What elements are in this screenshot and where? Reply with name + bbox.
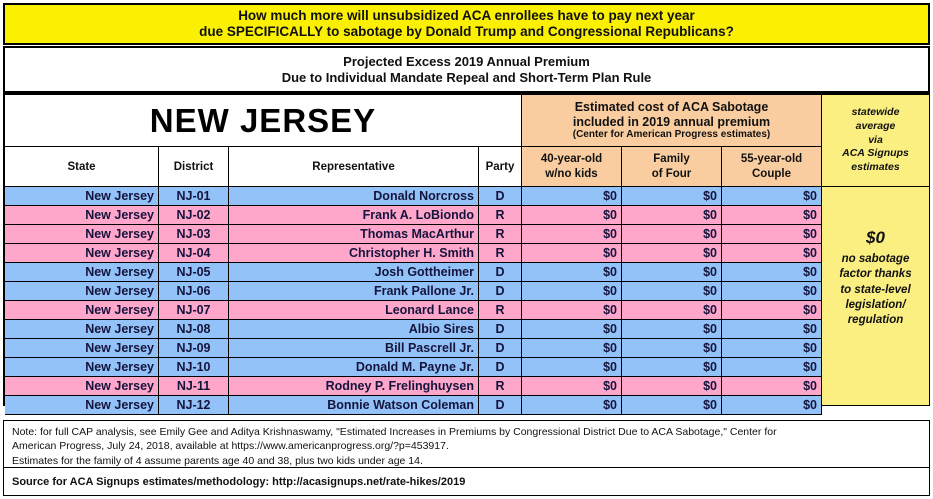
column-header-55-year-old-couple: 55-year-old Couple	[722, 147, 822, 187]
subtitle-line-2: Due to Individual Mandate Repeal and Sho…	[282, 70, 652, 86]
row-value-family-of-four: $0	[622, 263, 722, 282]
row-value-family-of-four: $0	[622, 320, 722, 339]
row-party: D	[479, 187, 522, 206]
row-value-family-of-four: $0	[622, 282, 722, 301]
row-representative: Donald M. Payne Jr.	[229, 358, 479, 377]
statewide-header-line-3: via	[868, 134, 883, 148]
row-party: D	[479, 396, 522, 415]
row-value-55-year-old-couple: $0	[722, 187, 822, 206]
table-row: New JerseyNJ-03Thomas MacArthurR$0$0$0	[5, 225, 822, 244]
row-party: D	[479, 282, 522, 301]
row-value-40-year-old: $0	[522, 358, 622, 377]
row-district: NJ-05	[159, 263, 229, 282]
row-value-40-year-old: $0	[522, 396, 622, 415]
column-header-40-year-old: 40-year-old w/no kids	[522, 147, 622, 187]
statewide-amount: $0	[866, 227, 885, 250]
row-representative: Frank Pallone Jr.	[229, 282, 479, 301]
row-value-family-of-four: $0	[622, 244, 722, 263]
row-district: NJ-07	[159, 301, 229, 320]
row-value-40-year-old: $0	[522, 244, 622, 263]
footnote-line-2: American Progress, July 24, 2018, availa…	[12, 439, 921, 453]
row-representative: Thomas MacArthur	[229, 225, 479, 244]
column-header-family-line-1: Family	[653, 152, 689, 166]
column-header-55-line-1: 55-year-old	[741, 152, 802, 166]
row-value-40-year-old: $0	[522, 263, 622, 282]
row-value-55-year-old-couple: $0	[722, 377, 822, 396]
table-row: New JerseyNJ-10Donald M. Payne Jr.D$0$0$…	[5, 358, 822, 377]
table-row: New JerseyNJ-04Christopher H. SmithR$0$0…	[5, 244, 822, 263]
row-state: New Jersey	[5, 282, 159, 301]
statewide-average-value-cell: $0 no sabotage factor thanks to state-le…	[822, 187, 929, 406]
row-representative: Josh Gottheimer	[229, 263, 479, 282]
row-district: NJ-03	[159, 225, 229, 244]
row-value-55-year-old-couple: $0	[722, 320, 822, 339]
row-value-55-year-old-couple: $0	[722, 396, 822, 415]
row-district: NJ-02	[159, 206, 229, 225]
state-title-cell: NEW JERSEY	[5, 95, 522, 147]
row-state: New Jersey	[5, 320, 159, 339]
row-representative: Bill Pascrell Jr.	[229, 339, 479, 358]
state-name: NEW JERSEY	[150, 102, 376, 140]
row-party: R	[479, 225, 522, 244]
row-state: New Jersey	[5, 339, 159, 358]
row-value-family-of-four: $0	[622, 358, 722, 377]
row-value-family-of-four: $0	[622, 396, 722, 415]
row-value-55-year-old-couple: $0	[722, 206, 822, 225]
row-representative: Christopher H. Smith	[229, 244, 479, 263]
table-row: New JerseyNJ-09Bill Pascrell Jr.D$0$0$0	[5, 339, 822, 358]
row-party: D	[479, 320, 522, 339]
subtitle-block: Projected Excess 2019 Annual Premium Due…	[3, 46, 930, 93]
headline-line-1: How much more will unsubsidized ACA enro…	[238, 8, 695, 24]
column-header-40-line-1: 40-year-old	[541, 152, 602, 166]
statewide-average-header: statewide average via ACA Signups estima…	[822, 95, 929, 187]
data-table: NEW JERSEY Estimated cost of ACA Sabotag…	[3, 93, 930, 406]
row-state: New Jersey	[5, 358, 159, 377]
column-header-state: State	[5, 147, 159, 187]
column-header-party: Party	[479, 147, 522, 187]
row-value-55-year-old-couple: $0	[722, 263, 822, 282]
row-district: NJ-01	[159, 187, 229, 206]
row-value-55-year-old-couple: $0	[722, 301, 822, 320]
row-district: NJ-09	[159, 339, 229, 358]
row-value-55-year-old-couple: $0	[722, 225, 822, 244]
row-value-40-year-old: $0	[522, 282, 622, 301]
row-representative: Leonard Lance	[229, 301, 479, 320]
row-district: NJ-12	[159, 396, 229, 415]
row-party: R	[479, 206, 522, 225]
row-value-family-of-four: $0	[622, 377, 722, 396]
row-value-55-year-old-couple: $0	[722, 358, 822, 377]
source-block: Source for ACA Signups estimates/methodo…	[3, 468, 930, 496]
column-header-district: District	[159, 147, 229, 187]
sabotage-cost-header: Estimated cost of ACA Sabotage included …	[522, 95, 822, 147]
row-value-family-of-four: $0	[622, 301, 722, 320]
statewide-header-line-1: statewide	[852, 106, 900, 120]
row-representative: Frank A. LoBiondo	[229, 206, 479, 225]
statewide-note-line-4: legislation/	[845, 298, 905, 313]
row-party: R	[479, 244, 522, 263]
row-state: New Jersey	[5, 301, 159, 320]
row-state: New Jersey	[5, 187, 159, 206]
row-value-55-year-old-couple: $0	[722, 339, 822, 358]
statewide-note-line-3: to state-level	[840, 283, 910, 298]
row-state: New Jersey	[5, 206, 159, 225]
row-district: NJ-04	[159, 244, 229, 263]
table-row: New JerseyNJ-11Rodney P. FrelinghuysenR$…	[5, 377, 822, 396]
subtitle-line-1: Projected Excess 2019 Annual Premium	[343, 54, 590, 70]
sabotage-header-line-3: (Center for American Progress estimates)	[573, 129, 770, 141]
row-party: R	[479, 377, 522, 396]
row-state: New Jersey	[5, 225, 159, 244]
statewide-note-line-2: factor thanks	[839, 267, 911, 282]
row-value-family-of-four: $0	[622, 187, 722, 206]
table-row: New JerseyNJ-02Frank A. LoBiondoR$0$0$0	[5, 206, 822, 225]
statewide-header-line-5: estimates	[851, 161, 899, 175]
row-value-40-year-old: $0	[522, 206, 622, 225]
statewide-note-line-1: no sabotage	[842, 252, 910, 267]
row-value-40-year-old: $0	[522, 377, 622, 396]
statewide-header-line-2: average	[856, 120, 896, 134]
headline-banner: How much more will unsubsidized ACA enro…	[3, 3, 930, 45]
footnote-line-3: Estimates for the family of 4 assume par…	[12, 454, 921, 468]
row-representative: Bonnie Watson Coleman	[229, 396, 479, 415]
footnote-block: Note: for full CAP analysis, see Emily G…	[3, 420, 930, 468]
row-value-40-year-old: $0	[522, 301, 622, 320]
column-header-55-line-2: Couple	[752, 167, 791, 181]
table-row: New JerseyNJ-06Frank Pallone Jr.D$0$0$0	[5, 282, 822, 301]
column-header-family-line-2: of Four	[652, 167, 692, 181]
row-party: R	[479, 301, 522, 320]
row-value-40-year-old: $0	[522, 225, 622, 244]
row-state: New Jersey	[5, 244, 159, 263]
row-party: D	[479, 263, 522, 282]
row-value-40-year-old: $0	[522, 339, 622, 358]
table-row: New JerseyNJ-01Donald NorcrossD$0$0$0	[5, 187, 822, 206]
column-header-representative: Representative	[229, 147, 479, 187]
row-value-40-year-old: $0	[522, 320, 622, 339]
row-representative: Albio Sires	[229, 320, 479, 339]
row-value-55-year-old-couple: $0	[722, 244, 822, 263]
row-representative: Donald Norcross	[229, 187, 479, 206]
footnote-line-1: Note: for full CAP analysis, see Emily G…	[12, 425, 921, 439]
sabotage-header-line-1: Estimated cost of ACA Sabotage	[575, 100, 769, 114]
sabotage-header-line-2: included in 2019 annual premium	[573, 115, 770, 129]
row-value-40-year-old: $0	[522, 187, 622, 206]
column-header-family-of-four: Family of Four	[622, 147, 722, 187]
source-text: Source for ACA Signups estimates/methodo…	[12, 476, 465, 488]
infographic-page: How much more will unsubsidized ACA enro…	[0, 0, 933, 499]
row-district: NJ-11	[159, 377, 229, 396]
row-value-family-of-four: $0	[622, 339, 722, 358]
row-district: NJ-06	[159, 282, 229, 301]
table-row: New JerseyNJ-05Josh GottheimerD$0$0$0	[5, 263, 822, 282]
table-row: New JerseyNJ-12Bonnie Watson ColemanD$0$…	[5, 396, 822, 415]
row-district: NJ-08	[159, 320, 229, 339]
table-row: New JerseyNJ-07Leonard LanceR$0$0$0	[5, 301, 822, 320]
row-representative: Rodney P. Frelinghuysen	[229, 377, 479, 396]
table-row: New JerseyNJ-08Albio SiresD$0$0$0	[5, 320, 822, 339]
statewide-header-line-4: ACA Signups	[842, 147, 909, 161]
row-party: D	[479, 358, 522, 377]
row-value-family-of-four: $0	[622, 206, 722, 225]
row-party: D	[479, 339, 522, 358]
statewide-note-line-5: regulation	[848, 313, 904, 328]
row-value-family-of-four: $0	[622, 225, 722, 244]
column-header-40-line-2: w/no kids	[545, 167, 597, 181]
row-state: New Jersey	[5, 377, 159, 396]
row-district: NJ-10	[159, 358, 229, 377]
row-state: New Jersey	[5, 263, 159, 282]
row-state: New Jersey	[5, 396, 159, 415]
headline-line-2: due SPECIFICALLY to sabotage by Donald T…	[199, 24, 734, 40]
row-value-55-year-old-couple: $0	[722, 282, 822, 301]
